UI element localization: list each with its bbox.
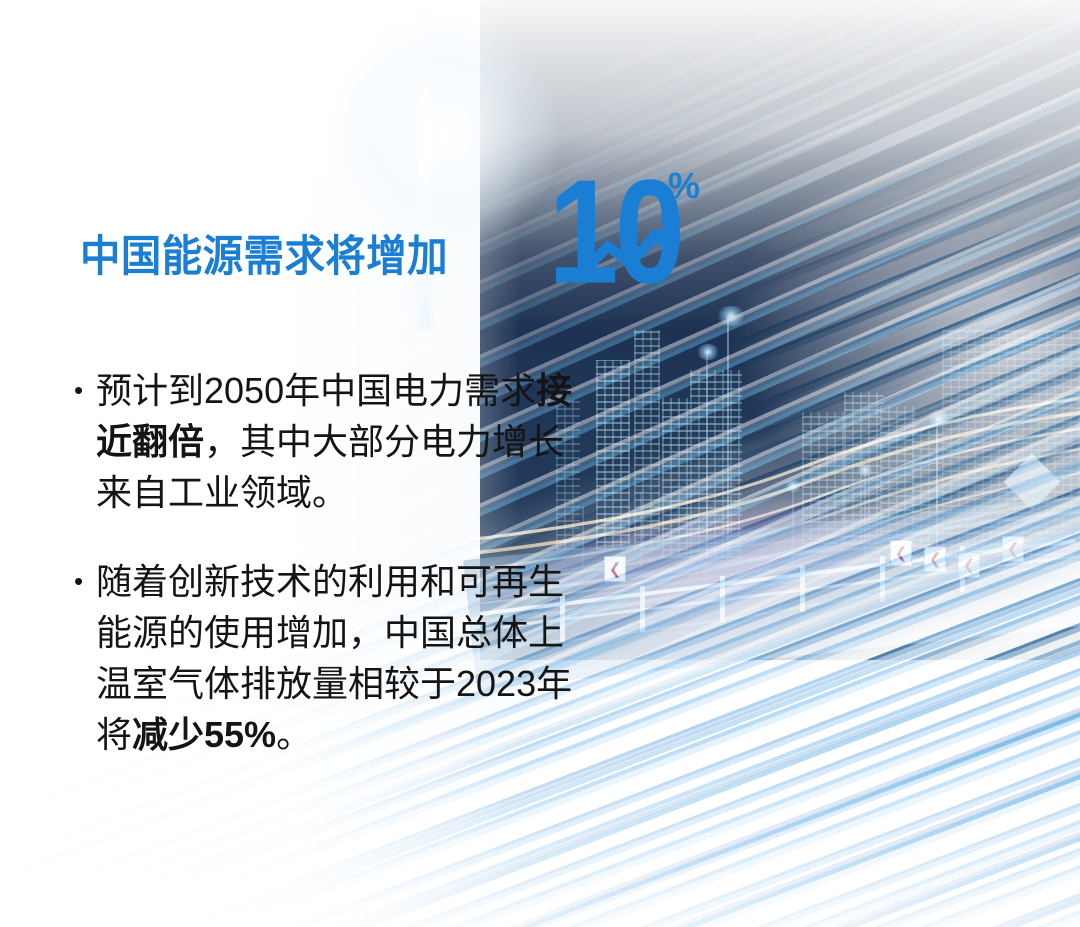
page-title: 中国能源需求将增加: [80, 222, 448, 284]
bullet-segment-bold: 减少55%: [132, 714, 276, 755]
bullet-segment: 预计到2050年中国电力需求: [96, 370, 536, 411]
list-item: • 预计到2050年中国电力需求接近翻倍，其中大部分电力增长来自工业领域。: [70, 365, 590, 518]
slide-canvas: ❮ ❮ ❮ ❮ ❮ 中国能源需求将增加 10 %: [0, 0, 1080, 927]
list-item: • 随着创新技术的利用和可再生能源的使用增加，中国总体上温室气体排放量相较于20…: [70, 556, 590, 760]
percent-symbol: %: [668, 168, 700, 204]
slide-content: 中国能源需求将增加 10 % • 预计到2050年中国电力需求接近翻倍，其中大部…: [0, 0, 1080, 927]
bullet-text: 预计到2050年中国电力需求接近翻倍，其中大部分电力增长来自工业领域。: [96, 365, 590, 518]
bullet-text: 随着创新技术的利用和可再生能源的使用增加，中国总体上温室气体排放量相较于2023…: [96, 556, 590, 760]
trend-up-arrow-icon: [578, 218, 682, 285]
bullet-list: • 预计到2050年中国电力需求接近翻倍，其中大部分电力增长来自工业领域。 • …: [70, 365, 590, 798]
bullet-segment: 。: [276, 714, 312, 755]
headline-block: 中国能源需求将增加 10 %: [78, 160, 718, 290]
bullet-marker: •: [70, 556, 96, 607]
bullet-marker: •: [70, 365, 96, 416]
